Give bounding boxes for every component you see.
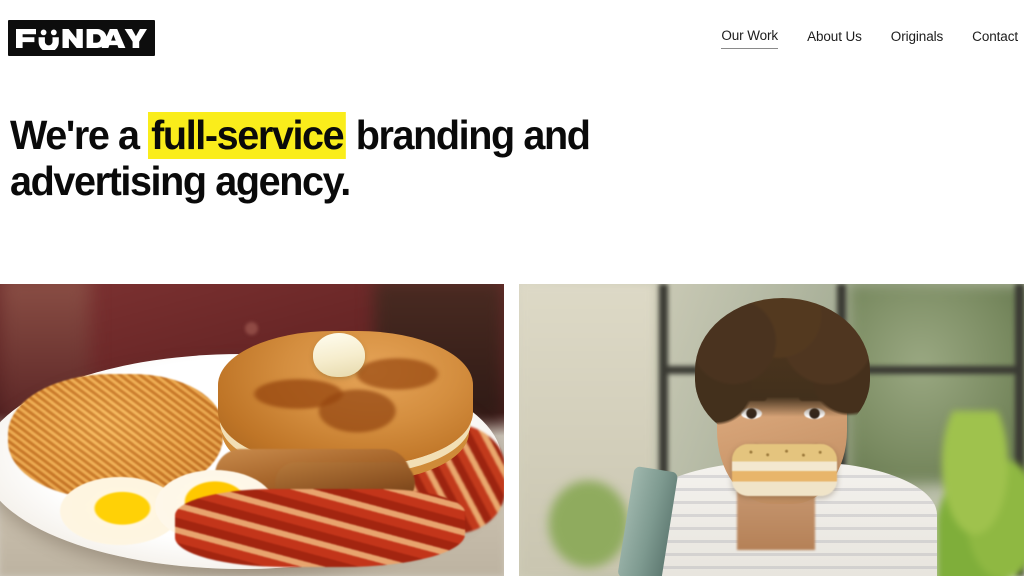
butter-scoop <box>313 333 365 377</box>
nav-item-about-us[interactable]: About Us <box>807 30 862 49</box>
page-title: We're a full-service branding and advert… <box>10 112 975 204</box>
bacon-front <box>175 489 465 567</box>
smiley-mouth <box>39 37 59 50</box>
man-with-sandwich-image <box>519 284 1024 576</box>
breakfast-sandwich <box>732 444 837 496</box>
hero-section: We're a full-service branding and advert… <box>10 112 1010 204</box>
breakfast-plate-image <box>0 284 504 576</box>
smiley-eye-right <box>51 30 57 36</box>
funday-logo-wordmark <box>16 26 147 50</box>
main-navigation[interactable]: Our Work About Us Originals Contact <box>721 27 1018 49</box>
work-grid <box>0 284 1024 576</box>
headline-line-2: advertising agency. <box>10 158 350 204</box>
smiley-eye-left <box>41 30 47 36</box>
headline-highlight: full-service <box>148 112 346 159</box>
headline-part-1: We're a <box>10 112 148 158</box>
site-header: Our Work About Us Originals Contact <box>0 0 1024 76</box>
page-root: Our Work About Us Originals Contact We'r… <box>0 0 1024 576</box>
nav-item-contact[interactable]: Contact <box>972 30 1018 49</box>
nav-item-originals[interactable]: Originals <box>891 30 943 49</box>
curly-hair <box>695 298 870 443</box>
funday-logo[interactable] <box>8 20 155 56</box>
work-card-man-with-sandwich[interactable] <box>519 284 1024 576</box>
headline-part-2: branding and <box>346 112 589 158</box>
shirt-button <box>245 322 258 335</box>
work-card-breakfast-plate[interactable] <box>0 284 504 576</box>
plant-right <box>937 411 1024 576</box>
nav-item-our-work[interactable]: Our Work <box>721 29 778 49</box>
